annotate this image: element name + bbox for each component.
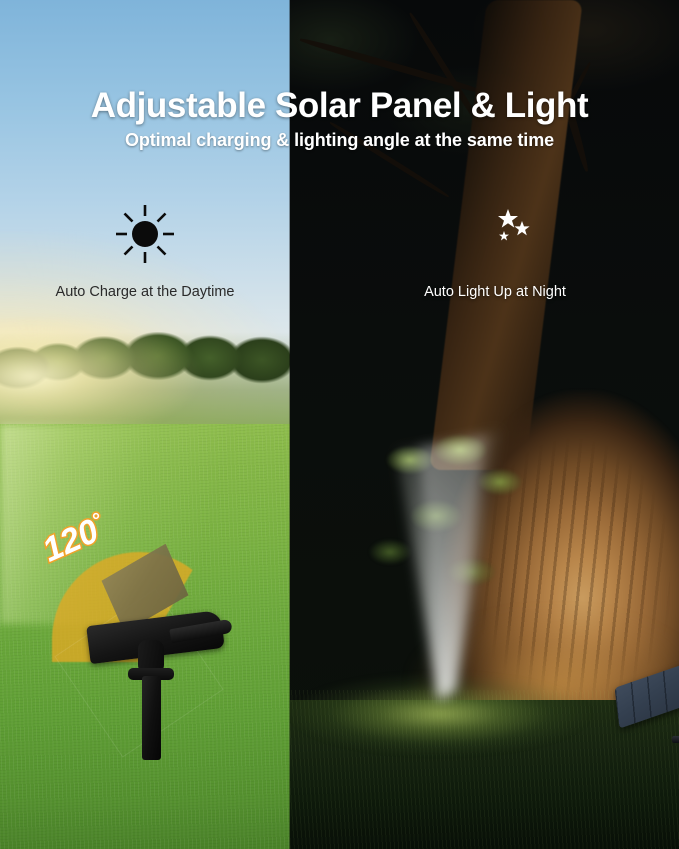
left-fixture-post (142, 676, 161, 760)
feature-daytime: Auto Charge at the Daytime (0, 200, 290, 300)
night-scene-panel (290, 0, 679, 849)
moon-stars-icon (350, 200, 640, 268)
feature-night-label: Auto Light Up at Night (350, 284, 640, 300)
page-title: Adjustable Solar Panel & Light (0, 86, 679, 126)
right-fixture-base (672, 736, 679, 743)
page-subtitle: Optimal charging & lighting angle at the… (0, 130, 679, 151)
product-feature-poster: 120° (0, 0, 679, 849)
right-fixture-panel-cells (615, 651, 679, 728)
scene-divider (289, 0, 290, 849)
sun-icon (0, 200, 290, 268)
feature-daytime-label: Auto Charge at the Daytime (0, 284, 290, 300)
right-fixture (580, 600, 679, 760)
daytime-scene-panel: 120° (0, 0, 290, 849)
feature-night: Auto Light Up at Night (350, 200, 640, 300)
